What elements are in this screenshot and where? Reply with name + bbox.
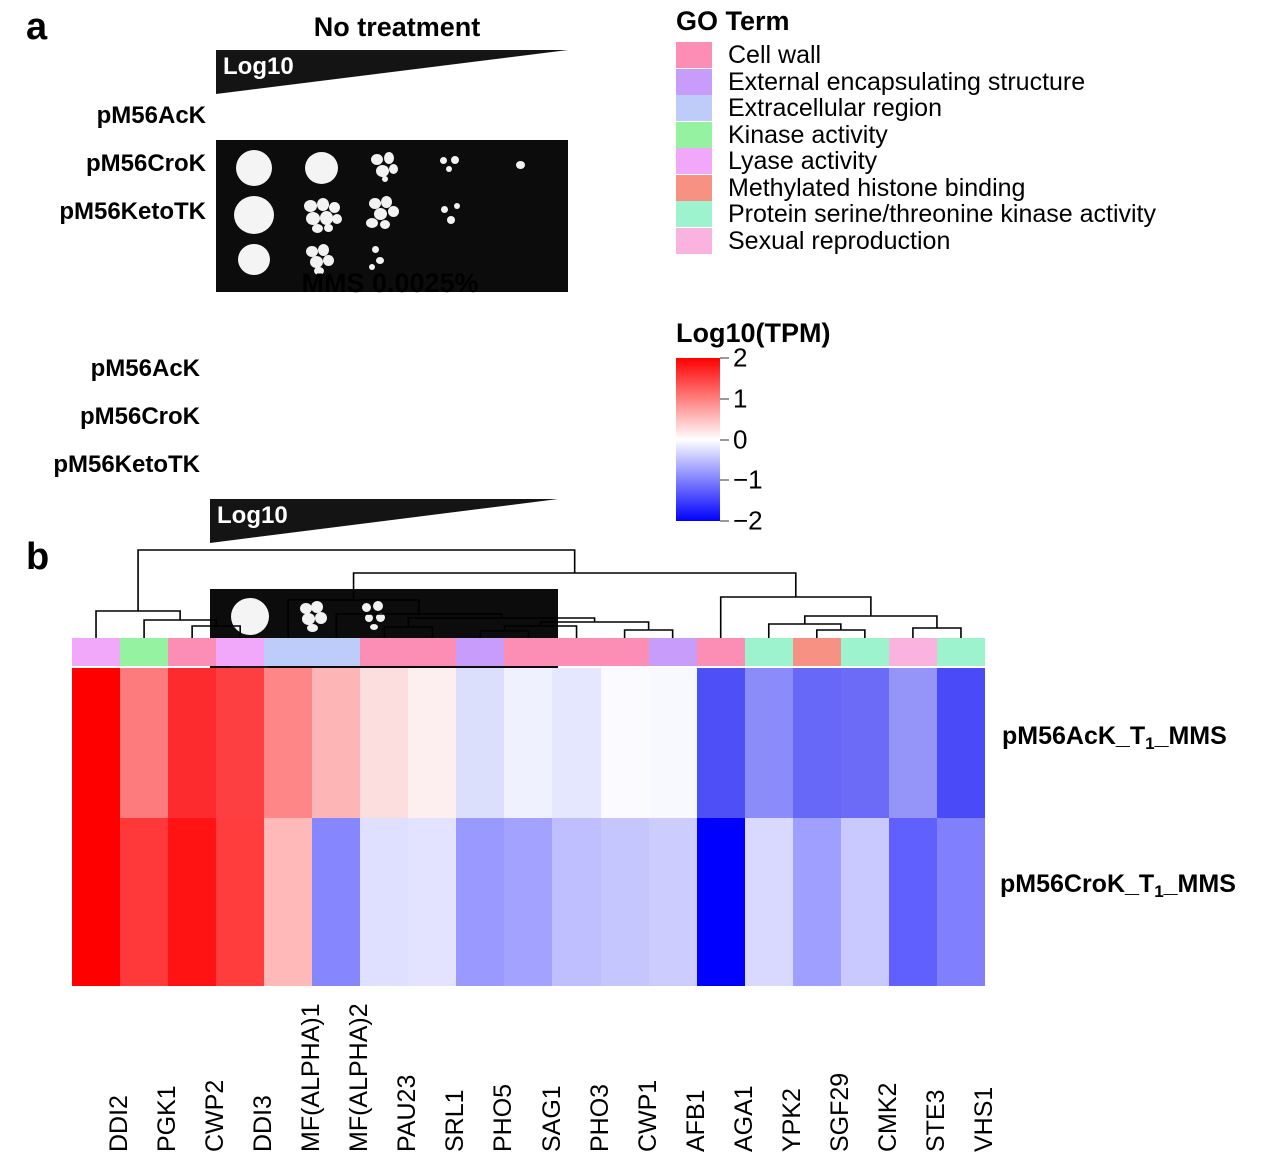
heatmap-cell [745,818,793,986]
gene-label: AGA1 [730,1085,759,1152]
heatmap-cell [697,668,745,818]
heatmap-cell [552,818,600,986]
heatmap-cell [168,668,216,818]
colorbar-title: Log10(TPM) [676,318,831,349]
go-annotation-cell [745,638,793,666]
go-legend-item: Kinase activity [676,122,1156,149]
go-annotation-cell [216,638,264,666]
gene-label: PHO3 [586,1084,615,1152]
go-annotation-cell [841,638,889,666]
colorbar-gradient [676,358,720,521]
strain-label-no-treatment-3: pM56KetoTK [10,198,206,226]
colorbar-tick-label: 0 [733,424,747,455]
dendrogram-link [504,626,576,638]
go-legend-swatch [676,175,712,201]
heatmap-cell [168,818,216,986]
heatmap-cell [120,818,168,986]
dendrogram-link [138,550,575,611]
gene-label: AFB1 [682,1089,711,1152]
gene-label: PHO5 [489,1084,518,1152]
heatmap-cell [216,818,264,986]
strain-label-no-treatment-1: pM56AcK [20,102,206,130]
strain-label-no-treatment-2: pM56CroK [20,150,206,178]
strain-label-mms-3: pM56KetoTK [4,451,200,479]
wedge-label: Log10 [223,53,294,81]
heatmap-cell [264,668,312,818]
dendrogram-link [625,630,673,638]
heatmap-cell [312,818,360,986]
go-annotation-cell [408,638,456,666]
go-annotation-cell [649,638,697,666]
heatmap-cell [72,818,120,986]
go-legend: Cell wallExternal encapsulating structur… [676,42,1156,254]
go-annotation-cell [552,638,600,666]
dendrogram-link [288,600,419,638]
heatmap-cell [841,818,889,986]
go-legend-item: Methylated histone binding [676,175,1156,202]
go-legend-label: Protein serine/threonine kinase activity [728,201,1156,227]
heatmap-cell [120,668,168,818]
heatmap-cell [793,818,841,986]
dendrogram-link [913,628,961,638]
go-legend-swatch [676,122,712,148]
colorbar-tick-label: −2 [733,506,763,537]
heatmap-cell [408,818,456,986]
strain-label-mms-2: pM56CroK [14,403,200,431]
go-legend-item: Extracellular region [676,95,1156,122]
colorbar-tick [720,398,729,400]
heatmap-cell [456,668,504,818]
heatmap-cell [312,668,360,818]
heatmap-cell [697,818,745,986]
gene-label: MF(ALPHA)1 [297,1003,326,1152]
dendrogram-link [192,626,240,638]
row-label-suffix: _MMS [1164,870,1236,898]
colorbar-tick [720,520,729,522]
heatmap-cell [841,668,889,818]
colorbar-tick [720,439,729,441]
dendrogram-link [96,611,180,638]
go-legend-swatch [676,95,712,121]
wedge-label: Log10 [217,502,288,530]
go-annotation-cell [120,638,168,666]
go-legend-label: Kinase activity [728,122,888,148]
gene-label: STE3 [922,1089,951,1152]
heatmap-cell [745,668,793,818]
colorbar-tick-label: 1 [733,383,747,414]
dilution-wedge-mms: Log10 [210,499,558,543]
gene-label: CWP2 [201,1080,230,1152]
colorbar-tick [720,479,729,481]
go-annotation-cell [360,638,408,666]
panel-a-letter: a [26,8,47,46]
go-legend-swatch [676,148,712,174]
row-label-prefix: pM56AcK_T [1002,722,1145,750]
heatmap-cell [360,668,408,818]
colorbar-tick-label: 2 [733,343,747,374]
gene-label: YPK2 [778,1088,807,1152]
row-label-sub: 1 [1154,882,1163,901]
go-legend-item: Sexual reproduction [676,228,1156,255]
heatmap-cell [937,668,985,818]
assay-title-mms: MMS 0.0025% [210,268,570,299]
go-legend-label: Sexual reproduction [728,228,950,254]
colorbar: 210−1−2 [676,358,720,521]
gene-label: SRL1 [441,1089,470,1152]
go-annotation-cell [793,638,841,666]
gene-label: CMK2 [874,1083,903,1152]
go-annotation-cell [504,638,552,666]
go-legend-item: External encapsulating structure [676,69,1156,96]
gene-label: PGK1 [153,1085,182,1152]
go-annotation-bar [72,638,985,666]
gene-label: DDI3 [249,1095,278,1152]
dendrogram-link [721,597,871,638]
go-legend-label: Lyase activity [728,148,877,174]
go-legend-swatch [676,69,712,95]
dendrogram-link [354,573,796,600]
dendrogram-link [805,616,937,628]
go-annotation-cell [937,638,985,666]
heatmap-cell [649,668,697,818]
heatmap-cell [937,818,985,986]
column-dendrogram [72,538,985,638]
assay-title-no-treatment: No treatment [222,12,572,43]
panel-b-letter: b [26,538,49,576]
gene-label: VHS1 [970,1087,999,1152]
row-label-sub: 1 [1145,734,1154,753]
heatmap-row-pm56ack [72,668,985,818]
heatmap-cell [360,818,408,986]
heatmap-cell [72,668,120,818]
go-legend-title: GO Term [676,6,790,37]
go-annotation-cell [601,638,649,666]
heatmap-row-label-2: pM56CroK_T1_MMS [1000,870,1236,899]
heatmap-cell [408,668,456,818]
go-legend-label: Extracellular region [728,95,942,121]
go-annotation-cell [168,638,216,666]
dendrogram-link [817,630,865,638]
dendrogram-link [769,624,841,638]
go-legend-label: Cell wall [728,42,821,68]
row-label-suffix: _MMS [1155,722,1227,750]
gene-label: SAG1 [538,1085,567,1152]
dendrogram-link [144,620,216,638]
heatmap-row-pm56crok [72,818,985,986]
gene-label: DDI2 [105,1095,134,1152]
heatmap-cell [504,818,552,986]
go-legend-item: Protein serine/threonine kinase activity [676,201,1156,228]
gene-label: MF(ALPHA)2 [345,1003,374,1152]
go-annotation-cell [264,638,312,666]
heatmap-cell [552,668,600,818]
heatmap-cell [889,668,937,818]
heatmap-cell [793,668,841,818]
go-legend-label: External encapsulating structure [728,69,1085,95]
go-legend-swatch [676,42,712,68]
go-annotation-cell [72,638,120,666]
strain-label-mms-1: pM56AcK [14,355,200,383]
heatmap-cell [649,818,697,986]
colorbar-tick [720,357,729,359]
row-label-prefix: pM56CroK_T [1000,870,1154,898]
heatmap-cell [601,818,649,986]
go-legend-swatch [676,228,712,254]
heatmap-cell [601,668,649,818]
gene-label: CWP1 [634,1080,663,1152]
go-legend-item: Cell wall [676,42,1156,69]
go-annotation-cell [312,638,360,666]
heatmap-cell [889,818,937,986]
heatmap-cell [504,668,552,818]
go-annotation-cell [697,638,745,666]
heatmap-cell [264,818,312,986]
heatmap-cell [456,818,504,986]
gene-label: PAU23 [393,1075,422,1152]
heatmap-cell [216,668,264,818]
gene-label: SGF29 [826,1073,855,1152]
go-annotation-cell [456,638,504,666]
dendrogram-link [480,631,528,638]
go-annotation-cell [889,638,937,666]
heatmap-row-label-1: pM56AcK_T1_MMS [1002,722,1227,751]
go-legend-item: Lyase activity [676,148,1156,175]
go-legend-swatch [676,201,712,227]
go-legend-label: Methylated histone binding [728,175,1025,201]
dendrogram-link [384,627,432,638]
dilution-wedge-no-treatment: Log10 [216,50,568,94]
colorbar-tick-label: −1 [733,465,763,496]
